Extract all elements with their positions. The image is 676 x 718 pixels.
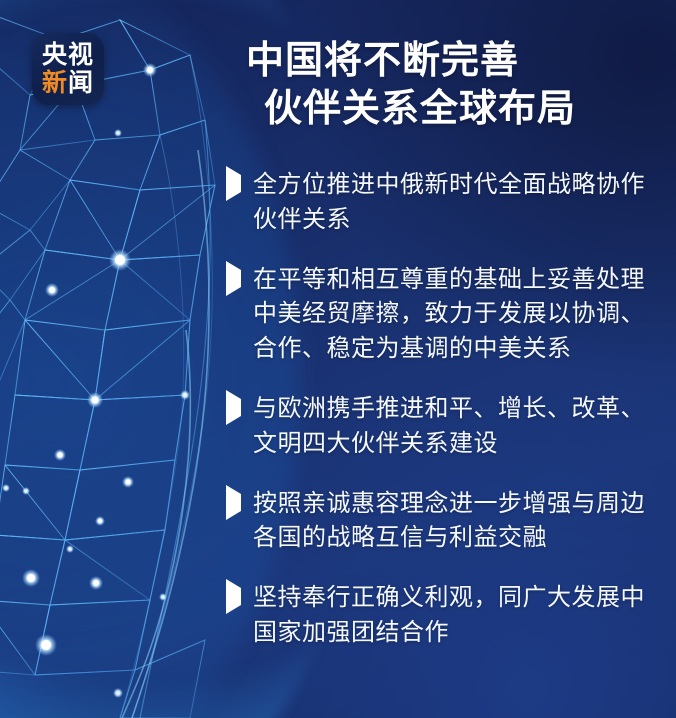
list-item-text: 全方位推进中俄新时代全面战略协作伙伴关系 xyxy=(253,168,661,238)
headline-line-2: 伙伴关系全球布局 xyxy=(246,86,666,134)
bullet-list: 全方位推进中俄新时代全面战略协作伙伴关系 在平等和相互尊重的基础上妥善处理中美经… xyxy=(226,168,668,676)
list-item-text: 在平等和相互尊重的基础上妥善处理中美经贸摩擦，致力于发展以协调、合作、稳定为基调… xyxy=(253,263,661,367)
triangle-right-icon xyxy=(226,175,243,194)
list-item-text: 按照亲诚惠容理念进一步增强与周边各国的战略互信与利益交融 xyxy=(253,487,661,557)
list-item: 全方位推进中俄新时代全面战略协作伙伴关系 xyxy=(226,168,668,238)
logo-accent-char: 新 xyxy=(42,71,68,96)
page-title: 中国将不断完善 伙伴关系全球布局 xyxy=(246,38,666,134)
triangle-right-icon xyxy=(226,494,243,513)
list-item: 在平等和相互尊重的基础上妥善处理中美经贸摩擦，致力于发展以协调、合作、稳定为基调… xyxy=(226,263,668,367)
cctv-news-logo: 央视 新闻 xyxy=(32,33,104,105)
list-item-text: 与欧洲携手推进和平、增长、改革、文明四大伙伴关系建设 xyxy=(253,392,661,462)
logo-line-2: 新闻 xyxy=(42,71,94,96)
poster-canvas: 央视 新闻 中国将不断完善 伙伴关系全球布局 全方位推进中俄新时代全面战略协作伙… xyxy=(0,0,676,718)
triangle-right-icon xyxy=(226,270,243,289)
headline-line-1: 中国将不断完善 xyxy=(246,38,666,86)
logo-rest-char: 闻 xyxy=(68,71,94,96)
list-item: 坚持奉行正确义利观，同广大发展中国家加强团结合作 xyxy=(226,581,668,651)
list-item-text: 坚持奉行正确义利观，同广大发展中国家加强团结合作 xyxy=(253,581,661,651)
list-item: 按照亲诚惠容理念进一步增强与周边各国的战略互信与利益交融 xyxy=(226,487,668,557)
triangle-right-icon xyxy=(226,399,243,418)
triangle-right-icon xyxy=(226,588,243,607)
logo-line-1: 央视 xyxy=(42,43,94,68)
list-item: 与欧洲携手推进和平、增长、改革、文明四大伙伴关系建设 xyxy=(226,392,668,462)
